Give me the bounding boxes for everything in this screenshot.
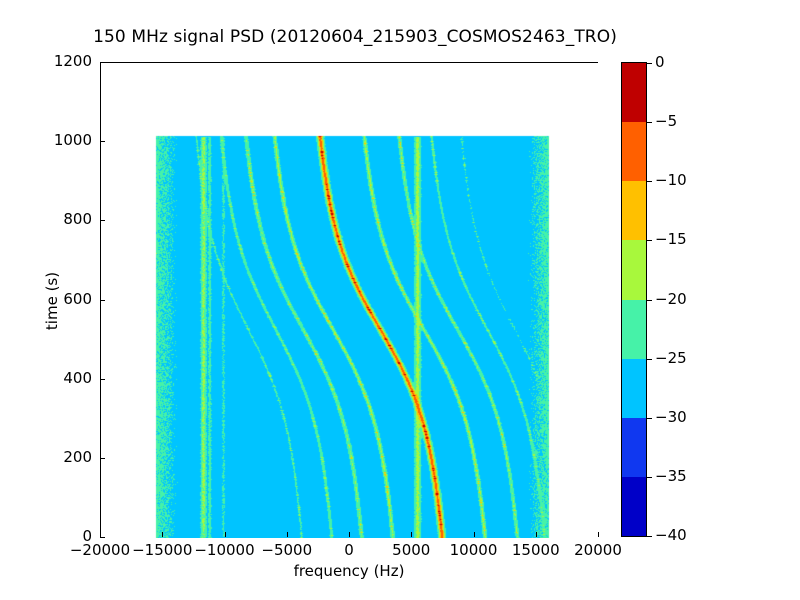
colorbar-band [622,122,646,181]
colorbar-tick-label: −30 [655,408,687,426]
y-tick-label: 400 [14,369,92,387]
x-tick [349,532,350,537]
colorbar-tick [647,122,652,123]
figure-canvas: 150 MHz signal PSD (20120604_215903_COSM… [0,0,800,600]
colorbar-band [622,418,646,477]
colorbar-tick-label: −35 [655,467,687,485]
spectrogram-image[interactable] [101,63,599,538]
colorbar-tick [647,63,652,64]
colorbar-band [622,240,646,299]
colorbar-band [622,63,646,122]
y-tick [100,458,105,459]
y-tick [100,141,105,142]
colorbar-tick-label: 0 [655,53,665,71]
x-tick-label: 20000 [553,541,643,559]
colorbar-tick-label: −20 [655,290,687,308]
colorbar-tick-label: −40 [655,526,687,544]
colorbar-tick [647,477,652,478]
colorbar-tick-label: −15 [655,230,687,248]
x-tick [474,532,475,537]
colorbar-band [622,181,646,240]
colorbar-tick [647,536,652,537]
y-tick-label: 1000 [14,131,92,149]
y-tick [100,300,105,301]
y-tick [100,379,105,380]
colorbar-band [622,359,646,418]
x-tick [411,532,412,537]
y-tick [100,62,105,63]
colorbar-tick [647,300,652,301]
y-tick-label: 0 [14,527,92,545]
colorbar-tick [647,181,652,182]
y-tick-label: 800 [14,210,92,228]
x-tick [287,532,288,537]
x-tick [162,532,163,537]
y-tick-label: 200 [14,448,92,466]
spectrogram-axes[interactable] [100,62,598,537]
colorbar-tick [647,418,652,419]
x-tick [225,532,226,537]
page-title: 150 MHz signal PSD (20120604_215903_COSM… [0,27,710,47]
colorbar-tick-label: −10 [655,171,687,189]
colorbar-tick-label: −5 [655,112,677,130]
y-tick [100,220,105,221]
colorbar-band [622,477,646,536]
colorbar[interactable] [621,62,647,537]
y-axis-label: time (s) [43,241,61,361]
x-tick [598,532,599,537]
colorbar-tick-label: −25 [655,349,687,367]
x-tick [536,532,537,537]
y-tick [100,537,105,538]
colorbar-tick [647,359,652,360]
colorbar-band [622,300,646,359]
y-tick-label: 1200 [14,52,92,70]
colorbar-tick [647,240,652,241]
x-axis-label: frequency (Hz) [100,562,598,580]
